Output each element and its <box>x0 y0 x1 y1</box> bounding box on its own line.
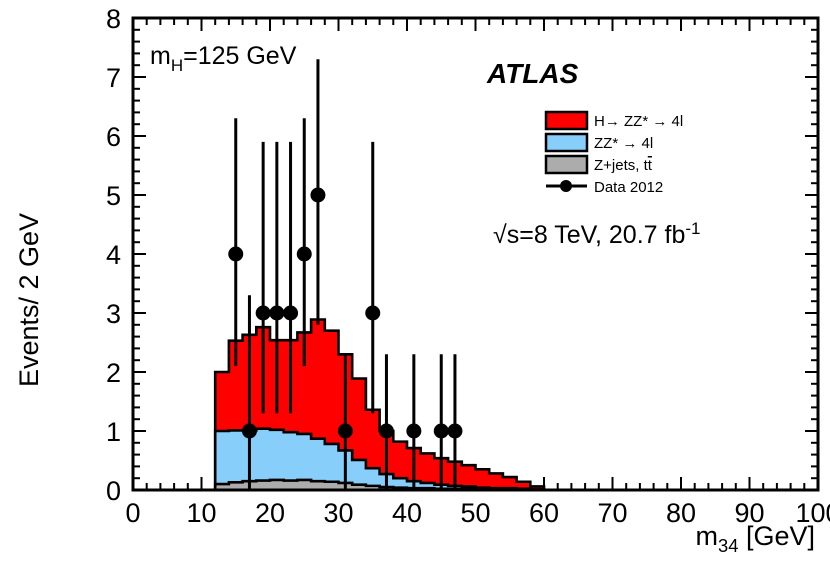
data-point-3 <box>269 306 284 321</box>
data-point-5 <box>297 247 312 262</box>
higgs-mass-rest: =125 GeV <box>183 42 297 70</box>
legend-label-data: Data 2012 <box>594 179 663 196</box>
y-tick-label-5: 5 <box>106 181 121 211</box>
y-tick-label-3: 3 <box>106 299 121 329</box>
data-point-9 <box>379 424 394 439</box>
x-tick-label-0: 0 <box>125 498 140 528</box>
luminosity-exponent: -1 <box>685 219 700 238</box>
data-point-2 <box>256 306 271 321</box>
data-point-10 <box>406 424 421 439</box>
y-tick-label-2: 2 <box>106 358 121 388</box>
x-axis-title-unit: [GeV] <box>738 521 815 551</box>
legend-label-zz: ZZ* → 4l <box>594 135 653 152</box>
legend-entry-zjets: Z+jets, tt <box>546 156 653 174</box>
luminosity-text: √s=8 TeV, 20.7 fb <box>493 221 685 249</box>
legend-swatch-zz <box>546 134 587 151</box>
x-tick-label-10: 10 <box>186 498 216 528</box>
legend-label-zjets: Z+jets, tt <box>594 157 653 174</box>
x-axis-title: m34 [GeV] <box>696 521 815 556</box>
x-tick-label-40: 40 <box>392 498 422 528</box>
higgs-mass-base: m <box>150 42 171 70</box>
x-tick-label-70: 70 <box>597 498 627 528</box>
x-tick-label-20: 20 <box>255 498 285 528</box>
legend-marker-point-data <box>560 180 572 192</box>
y-tick-label-7: 7 <box>106 63 121 93</box>
physics-histogram-plot: Events/ 2 GeV 012345678 0102030405060708… <box>0 0 830 563</box>
higgs-mass-annotation: mH=125 GeV <box>150 42 297 75</box>
y-axis-title: Events/ 2 GeV <box>14 213 44 387</box>
data-point-8 <box>365 306 380 321</box>
legend-swatch-zjets <box>546 156 587 173</box>
luminosity-annotation: √s=8 TeV, 20.7 fb-1 <box>493 219 700 249</box>
y-tick-label-6: 6 <box>106 122 121 152</box>
y-tick-label-0: 0 <box>106 476 121 506</box>
legend: H→ ZZ* → 4l ZZ* → 4l Z+jets, tt Data 201… <box>546 112 683 196</box>
x-tick-label-50: 50 <box>460 498 490 528</box>
figure-root: Events/ 2 GeV 012345678 0102030405060708… <box>0 0 830 563</box>
y-tick-label-4: 4 <box>106 240 121 270</box>
data-point-1 <box>242 424 257 439</box>
data-point-4 <box>283 306 298 321</box>
data-point-7 <box>338 424 353 439</box>
x-tick-label-30: 30 <box>323 498 353 528</box>
x-axis-title-base: m <box>696 521 719 551</box>
legend-swatch-signal <box>546 112 587 129</box>
data-point-12 <box>447 424 462 439</box>
legend-entry-zz: ZZ* → 4l <box>546 134 653 152</box>
data-point-6 <box>310 188 325 203</box>
legend-entry-signal: H→ ZZ* → 4l <box>546 112 683 130</box>
legend-entry-data: Data 2012 <box>546 179 663 196</box>
y-tick-label-8: 8 <box>106 4 121 34</box>
x-axis-tick-labels: 0102030405060708090100 <box>125 498 830 528</box>
legend-label-zjets-pre: Z+jets, t <box>594 157 649 174</box>
x-tick-label-60: 60 <box>529 498 559 528</box>
x-tick-label-80: 80 <box>666 498 696 528</box>
y-axis-tick-labels: 012345678 <box>106 4 121 506</box>
legend-label-signal: H→ ZZ* → 4l <box>594 113 683 130</box>
data-point-11 <box>434 424 449 439</box>
x-axis-title-sub: 34 <box>718 535 738 556</box>
atlas-label: ATLAS <box>486 58 579 89</box>
higgs-mass-sub: H <box>171 56 183 75</box>
y-tick-label-1: 1 <box>106 417 121 447</box>
data-point-0 <box>228 247 243 262</box>
legend-label-zjets-bar: t <box>648 157 653 174</box>
